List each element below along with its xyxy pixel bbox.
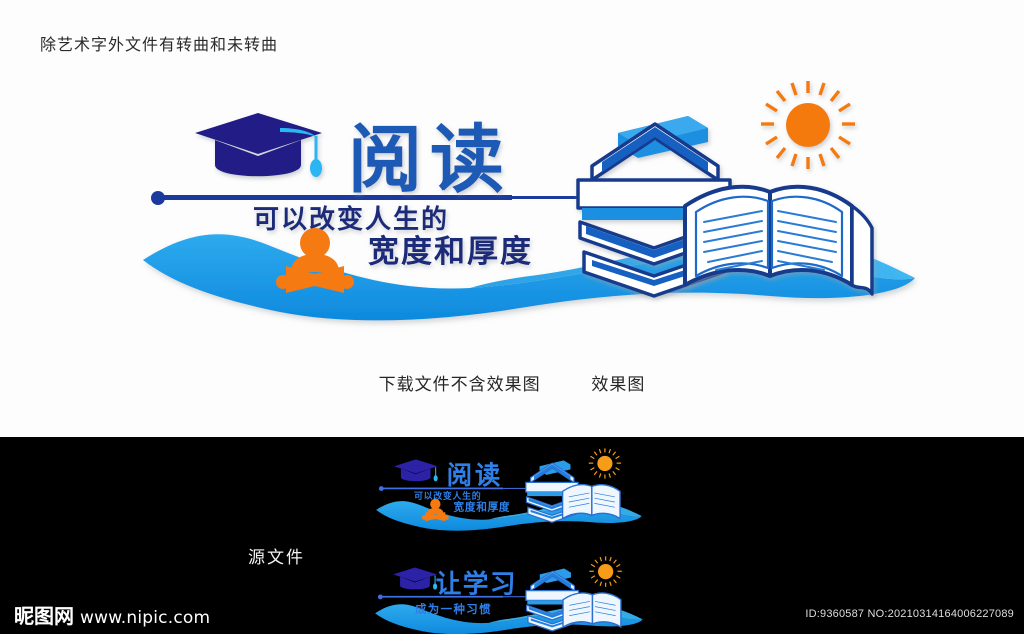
asset-id-code: ID:9360587 NO:20210314164006227089	[805, 608, 1014, 620]
caption-row: 下载文件不含效果图 效果图	[0, 370, 1024, 395]
screenshot-root: 除艺术字外文件有转曲和未转曲	[0, 0, 1024, 634]
caption-left: 下载文件不含效果图	[379, 370, 541, 395]
preview1-title: 阅读	[447, 461, 503, 491]
preview1-subtitle-line1: 可以改变人生的	[414, 490, 481, 502]
artwork-subtitle-line2: 宽度和厚度	[368, 234, 533, 270]
preview2-cap-icon	[393, 567, 437, 589]
preview-artwork-reading: 阅读 可以改变人生的 宽度和厚度	[372, 448, 650, 534]
sun-icon	[761, 81, 855, 169]
main-artwork: 阅读 可以改变人生的 宽度和厚度	[140, 80, 930, 330]
preview1-sun-icon	[589, 448, 621, 478]
preview-white-panel: 除艺术字外文件有转曲和未转曲	[0, 0, 1024, 437]
preview1-svg: 阅读 可以改变人生的 宽度和厚度	[372, 448, 650, 534]
brand-name-cn: 昵图网	[14, 600, 74, 629]
artwork-subtitle-line1: 可以改变人生的	[253, 204, 449, 235]
preview2-svg: 让学习 成为一种习惯	[372, 556, 650, 634]
graduation-cap-icon	[195, 113, 322, 177]
preview2-open-book-icon	[563, 593, 621, 627]
preview1-open-book-icon	[563, 485, 620, 519]
brand-url: www.nipic.com	[80, 608, 210, 628]
caption-right: 效果图	[591, 370, 645, 395]
preview1-cap-icon	[394, 459, 438, 481]
preview2-sun-icon	[589, 556, 622, 587]
preview1-subtitle-line2: 宽度和厚度	[453, 501, 511, 514]
preview2-subtitle: 成为一种习惯	[415, 602, 492, 616]
source-file-label: 源文件	[248, 543, 305, 568]
artwork-svg: 阅读 可以改变人生的 宽度和厚度	[140, 80, 930, 330]
preview2-title: 让学习	[436, 568, 517, 599]
artwork-title: 阅读	[348, 117, 512, 203]
preview-artwork-study: 让学习 成为一种习惯	[372, 556, 650, 634]
brand-watermark: 昵图网 www.nipic.com	[14, 600, 210, 629]
top-note-text: 除艺术字外文件有转曲和未转曲	[40, 31, 278, 55]
